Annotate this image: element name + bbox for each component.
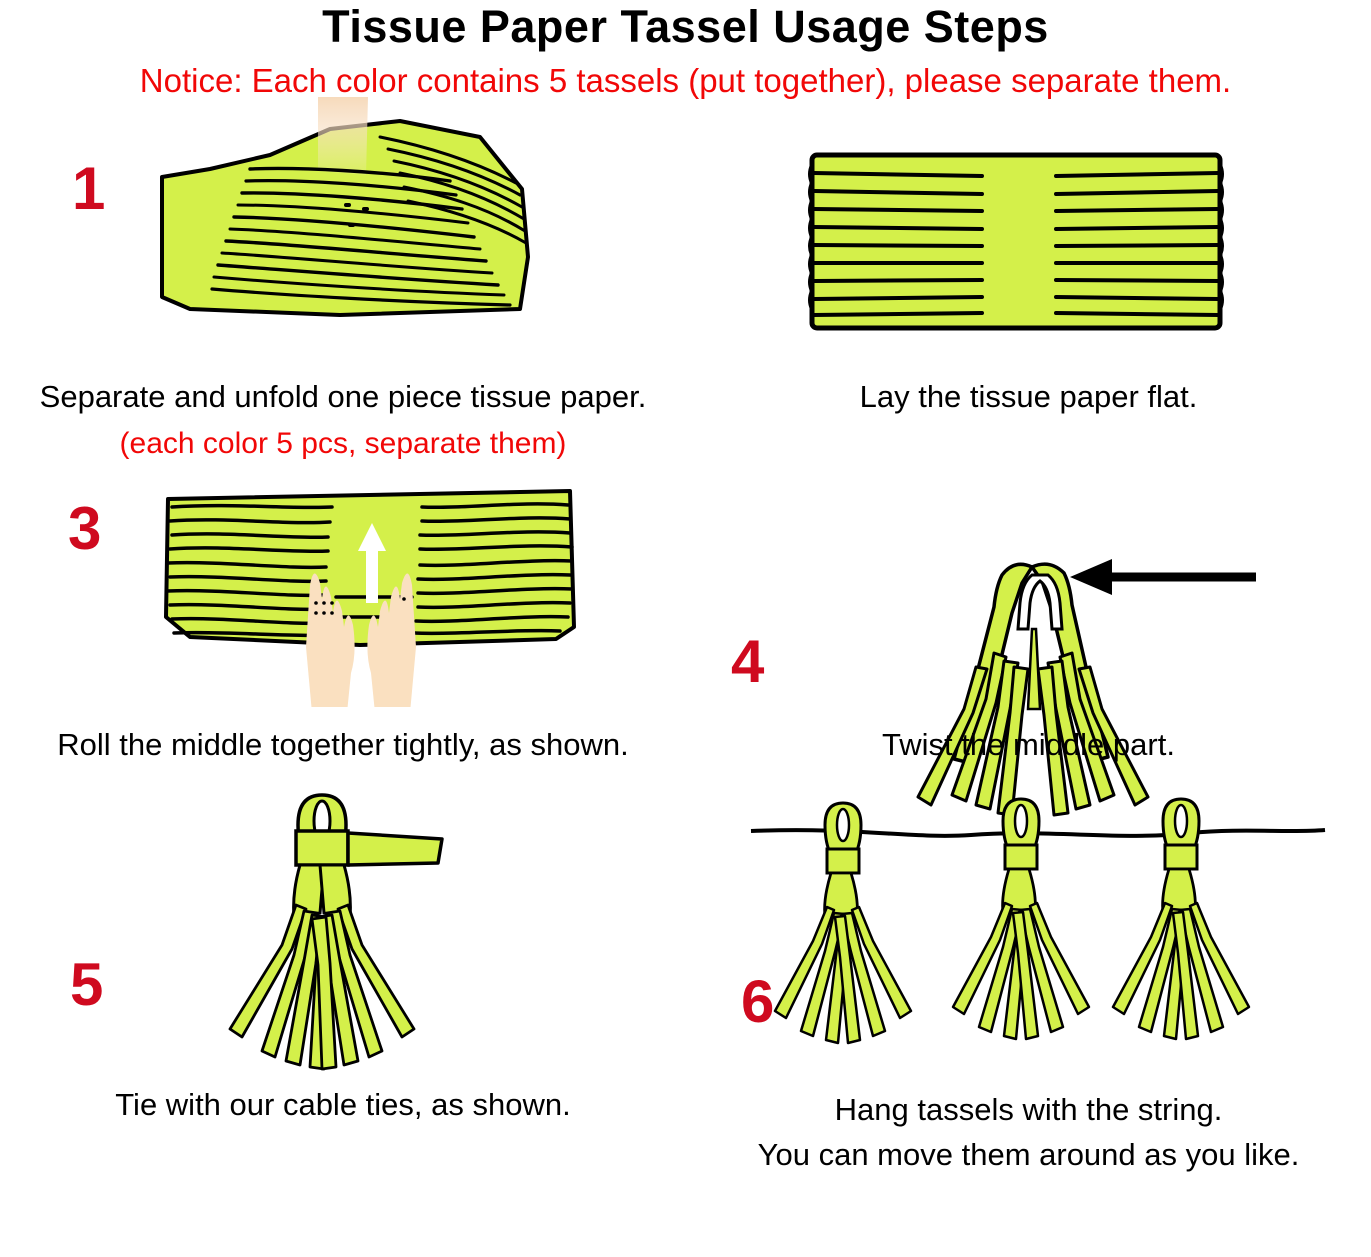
notice-text: Notice: Each color contains 5 tassels (p… — [0, 64, 1371, 97]
step-3-illustration — [160, 477, 580, 707]
step-6-illustration — [721, 797, 1341, 1087]
step-panel-3: 3 — [0, 477, 686, 777]
pointer-arrow — [1070, 559, 1256, 595]
page-title: Tissue Paper Tassel Usage Steps — [0, 3, 1371, 50]
step-number-4: 4 — [731, 632, 764, 692]
step-panel-4: 4 — [686, 427, 1371, 777]
step-1-subcaption: (each color 5 pcs, separate them) — [0, 427, 686, 462]
step-2-illustration — [806, 149, 1226, 334]
tassel — [775, 803, 911, 1043]
step-1-illustration — [150, 97, 580, 342]
step-3-caption: Roll the middle together tightly, as sho… — [0, 727, 686, 764]
step-6-subcaption: You can move them around as you like. — [686, 1137, 1371, 1174]
steps-grid: 1 — [0, 97, 1371, 1197]
step-1-caption: Separate and unfold one piece tissue pap… — [0, 379, 686, 416]
step-number-5: 5 — [70, 955, 103, 1015]
step-panel-6: 6 — [686, 797, 1371, 1197]
step-2-caption: Lay the tissue paper flat. — [686, 379, 1371, 416]
step-5-illustration — [180, 787, 500, 1077]
step-number-1: 1 — [72, 159, 105, 219]
step-panel-5: 5 — [0, 787, 686, 1197]
step-4-caption: Twist the middle part. — [686, 727, 1371, 764]
step-5-caption: Tie with our cable ties, as shown. — [0, 1087, 686, 1124]
step-6-caption: Hang tassels with the string. — [686, 1092, 1371, 1129]
step-panel-1: 1 — [0, 97, 686, 497]
step-number-3: 3 — [68, 499, 101, 559]
